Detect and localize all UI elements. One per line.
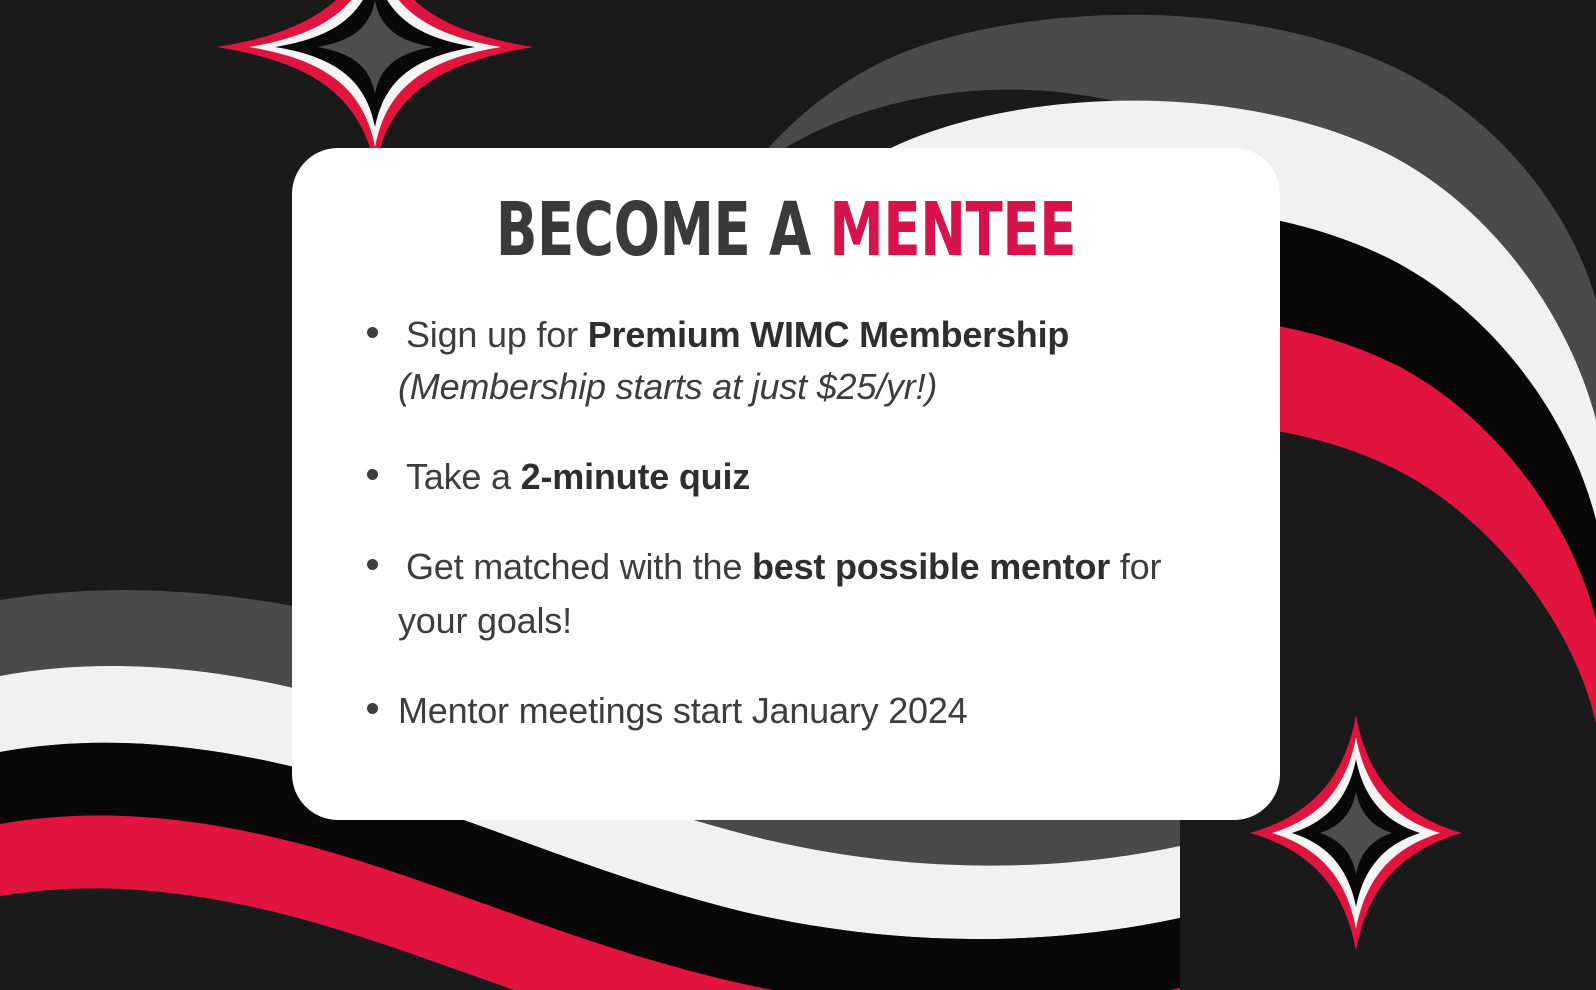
bullet-list: Sign up for Premium WIMC Membership(Memb… [367, 308, 1227, 738]
content-card: BECOME A MENTEE Sign up for Premium WIMC… [292, 148, 1280, 820]
bullet-text: Take a 2-minute quiz [398, 450, 1227, 504]
bullet-strong-3: best possible mentor [752, 546, 1110, 587]
bullet-lead-3: Get matched with the [398, 546, 752, 587]
bullet-dot-icon [367, 559, 378, 570]
bullet-dot-icon [367, 703, 378, 714]
list-item: Mentor meetings start January 2024 [367, 684, 1227, 738]
page-title: BECOME A MENTEE [381, 193, 1191, 267]
bullet-note-1: (Membership starts at just $25/yr!) [398, 360, 1227, 414]
bullet-text: Sign up for Premium WIMC Membership(Memb… [398, 308, 1227, 414]
bullet-text: Get matched with the best possible mento… [398, 540, 1227, 648]
bullet-lead-4: Mentor meetings start January 2024 [398, 690, 968, 731]
slide-canvas: BECOME A MENTEE Sign up for Premium WIMC… [0, 0, 1596, 990]
list-item: Take a 2-minute quiz [367, 450, 1227, 504]
bullet-strong-2: 2-minute quiz [521, 456, 750, 497]
list-item: Sign up for Premium WIMC Membership(Memb… [367, 308, 1227, 414]
list-item: Get matched with the best possible mento… [367, 540, 1227, 648]
title-space [811, 187, 830, 273]
bullet-lead-2: Take a [398, 456, 521, 497]
title-part-dark: BECOME A [496, 187, 811, 273]
bullet-strong-1: Premium WIMC Membership [588, 314, 1069, 355]
bullet-dot-icon [367, 469, 378, 480]
bullet-dot-icon [367, 327, 378, 338]
bullet-lead-1: Sign up for [398, 314, 588, 355]
title-part-red: MENTEE [829, 187, 1076, 273]
bullet-text: Mentor meetings start January 2024 [398, 684, 1227, 738]
